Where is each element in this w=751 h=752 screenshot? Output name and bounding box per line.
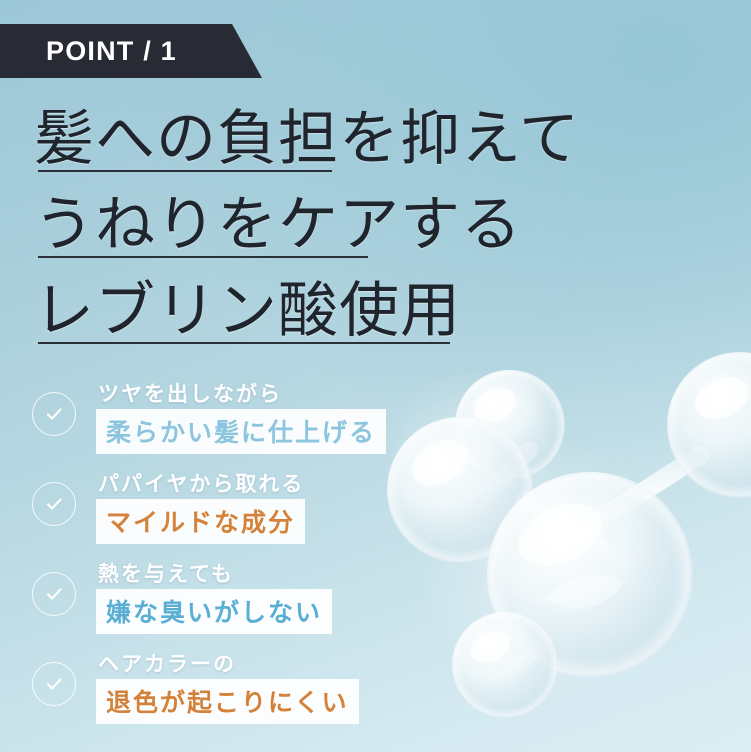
headline-line-1: 髪への負担を抑えて [34, 96, 634, 182]
check-circle-icon [32, 392, 76, 436]
headline-line-2: うねりをケアする [34, 182, 634, 268]
headline-line-2-text: うねりをケアする [34, 192, 522, 258]
benefit-lead: 熱を与えても [98, 558, 234, 588]
headline: 髪への負担を抑えて うねりをケアする レブリン酸使用 [34, 96, 634, 354]
promo-graphic: POINT / 1 髪への負担を抑えて うねりをケアする レブリン酸使用 ツヤを… [0, 0, 751, 752]
benefit-highlight: 嫌な臭いがしない [96, 589, 332, 634]
headline-line-3-text: レブリン酸使用 [34, 278, 461, 344]
benefit-highlight: 退色が起こりにくい [96, 679, 359, 724]
headline-underline-3 [38, 342, 450, 344]
benefit-lead: ツヤを出しながら [98, 378, 282, 408]
benefit-highlight: 柔らかい髪に仕上げる [96, 409, 386, 454]
check-circle-icon [32, 482, 76, 526]
benefit-lead: パパイヤから取れる [98, 468, 304, 498]
headline-line-3: レブリン酸使用 [34, 268, 634, 354]
check-circle-icon [32, 572, 76, 616]
point-banner-label: POINT / 1 [46, 36, 177, 67]
benefit-lead: ヘアカラーの [98, 648, 236, 678]
benefit-highlight: マイルドな成分 [96, 499, 305, 544]
headline-line-1-text: 髪への負担を抑えて [34, 106, 580, 172]
headline-underline-2 [38, 256, 368, 258]
check-circle-icon [32, 662, 76, 706]
headline-underline-1 [38, 170, 332, 172]
point-banner: POINT / 1 [0, 24, 262, 78]
